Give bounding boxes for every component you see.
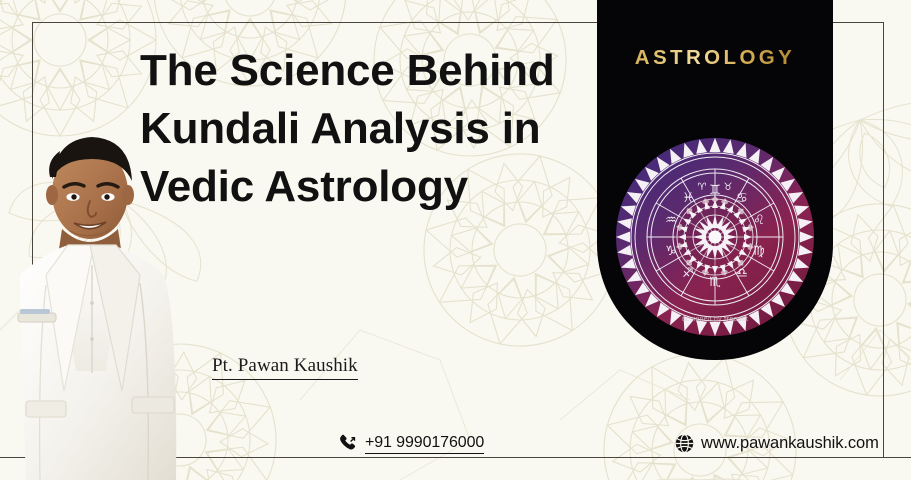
avatar xyxy=(0,125,205,480)
zodiac-glyph-12: ♉ xyxy=(724,182,733,193)
astrology-panel: ASTROLOGY xyxy=(597,0,833,360)
page-title-line-1: The Science Behind xyxy=(140,42,610,100)
freepik-credit-prefix: designed by xyxy=(682,316,722,323)
page-title: The Science Behind Kundali Analysis in V… xyxy=(140,42,610,216)
zodiac-glyph-2: ♋ xyxy=(736,191,748,206)
page-title-line-2: Kundali Analysis in xyxy=(140,100,610,158)
zodiac-glyph-9: ♒ xyxy=(665,213,677,228)
website-url: www.pawankaushik.com xyxy=(701,434,879,454)
website-contact[interactable]: www.pawankaushik.com xyxy=(674,433,879,454)
zodiac-glyph-4: ♍ xyxy=(753,244,765,259)
panel-title: ASTROLOGY xyxy=(597,46,833,70)
zodiac-glyph-3: ♌ xyxy=(753,213,765,228)
phone-contact[interactable]: +91 9990176000 xyxy=(338,433,484,454)
freepik-credit: designed by freepik xyxy=(597,316,833,323)
zodiac-glyph-1: ♊ xyxy=(709,183,721,198)
phone-outgoing-icon xyxy=(338,433,359,454)
zodiac-wheel: ♊ ♋ ♌ ♍ ♎ ♏ ♐ ♑ ♒ ♓ ♈ ♉ xyxy=(614,136,816,338)
globe-icon xyxy=(674,433,695,454)
zodiac-glyph-8: ♑ xyxy=(665,244,677,259)
page-title-line-3: Vedic Astrology xyxy=(140,158,610,216)
phone-number: +91 9990176000 xyxy=(365,434,484,454)
zodiac-glyph-6: ♏ xyxy=(709,275,721,290)
zodiac-glyph-10: ♓ xyxy=(682,191,694,206)
zodiac-glyph-11: ♈ xyxy=(698,182,707,193)
freepik-brand: freepik xyxy=(724,316,748,323)
author-name: Pt. Pawan Kaushik xyxy=(212,355,358,380)
banner-root: The Science Behind Kundali Analysis in V… xyxy=(0,0,911,480)
